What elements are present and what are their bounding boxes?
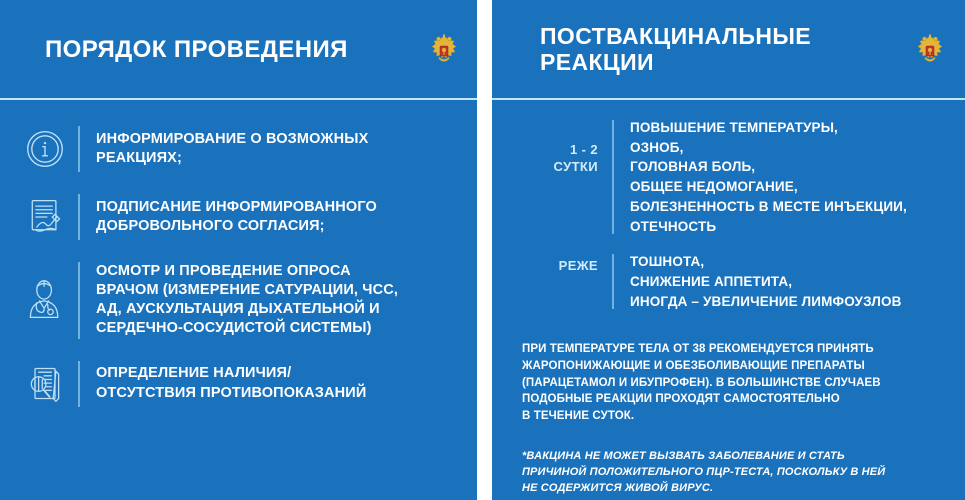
procedure-panel-body: ИНФОРМИРОВАНИЕ О ВОЗМОЖНЫХ РЕАКЦИЯХ;	[0, 100, 477, 407]
temperature-advice-note: ПРИ ТЕМПЕРАТУРЕ ТЕЛА ОТ 38 РЕКОМЕНДУЕТСЯ…	[492, 327, 965, 424]
doctor-icon	[22, 277, 68, 323]
item-divider	[78, 361, 80, 407]
header-divider	[492, 98, 965, 100]
symptom-line: ОЗНОБ,	[630, 138, 907, 158]
vaccine-footnote: *ВАКЦИНА НЕ МОЖЕТ ВЫЗВАТЬ ЗАБОЛЕВАНИЕ И …	[492, 425, 965, 497]
item-divider	[78, 126, 80, 172]
footnote-line: НЕ СОДЕРЖИТСЯ ЖИВОЙ ВИРУС.	[522, 481, 949, 497]
signed-document-icon	[22, 194, 68, 240]
list-item: ПОДПИСАНИЕ ИНФОРМИРОВАННОГО ДОБРОВОЛЬНОГ…	[22, 194, 461, 240]
symptom-line: ГОЛОВНАЯ БОЛЬ,	[630, 157, 907, 177]
symptom-line: ОБЩЕЕ НЕДОМОГАНИЕ,	[630, 177, 907, 197]
row-divider	[612, 120, 614, 234]
note-line: ПРИ ТЕМПЕРАТУРЕ ТЕЛА ОТ 38 РЕКОМЕНДУЕТСЯ…	[522, 341, 949, 358]
label-line: ИНФОРМИРОВАНИЕ О ВОЗМОЖНЫХ	[96, 130, 368, 149]
procedure-panel-header: ПОРЯДОК ПРОВЕДЕНИЯ	[0, 0, 477, 100]
period-line: 1 - 2	[514, 142, 598, 159]
symptom-line: ОТЕЧНОСТЬ	[630, 217, 907, 237]
reaction-period-label: РЕЖЕ	[514, 252, 598, 275]
russian-coat-of-arms-icon	[429, 33, 459, 67]
list-item-label: ОСМОТР И ПРОВЕДЕНИЕ ОПРОСА ВРАЧОМ (ИЗМЕР…	[96, 262, 398, 339]
label-line: ДОБРОВОЛЬНОГО СОГЛАСИЯ;	[96, 217, 377, 236]
label-line: СЕРДЕЧНО-СОСУДИСТОЙ СИСТЕМЫ)	[96, 319, 398, 338]
reactions-panel-body: 1 - 2 СУТКИ ПОВЫШЕНИЕ ТЕМПЕРАТУРЫ, ОЗНОБ…	[492, 100, 965, 497]
reactions-panel-title: ПОСТВАКЦИНАЛЬНЫЕ РЕАКЦИИ	[540, 24, 905, 76]
label-line: ПОДПИСАНИЕ ИНФОРМИРОВАННОГО	[96, 198, 377, 217]
list-item-label: ОПРЕДЕЛЕНИЕ НАЛИЧИЯ/ ОТСУТСТВИЯ ПРОТИВОП…	[96, 364, 366, 402]
procedure-panel: ПОРЯДОК ПРОВЕДЕНИЯ	[0, 0, 477, 500]
note-line: ЖАРОПОНИЖАЮЩИЕ И ОБЕЗБОЛИВАЮЩИЕ ПРЕПАРАТ…	[522, 358, 949, 375]
reactions-table: 1 - 2 СУТКИ ПОВЫШЕНИЕ ТЕМПЕРАТУРЫ, ОЗНОБ…	[492, 100, 965, 311]
label-line: РЕАКЦИЯХ;	[96, 149, 368, 168]
label-line: ОСМОТР И ПРОВЕДЕНИЕ ОПРОСА	[96, 262, 398, 281]
note-line: В ТЕЧЕНИЕ СУТОК.	[522, 408, 949, 425]
list-item: ИНФОРМИРОВАНИЕ О ВОЗМОЖНЫХ РЕАКЦИЯХ;	[22, 126, 461, 172]
russian-coat-of-arms-icon	[915, 33, 945, 67]
reactions-panel: ПОСТВАКЦИНАЛЬНЫЕ РЕАКЦИИ	[492, 0, 965, 500]
reaction-symptom-list: ТОШНОТА, СНИЖЕНИЕ АППЕТИТА, ИНОГДА – УВЕ…	[630, 252, 902, 311]
footnote-line: ПРИЧИНОЙ ПОЛОЖИТЕЛЬНОГО ПЦР-ТЕСТА, ПОСКО…	[522, 465, 949, 481]
item-divider	[78, 262, 80, 339]
reaction-symptom-list: ПОВЫШЕНИЕ ТЕМПЕРАТУРЫ, ОЗНОБ, ГОЛОВНАЯ Б…	[630, 118, 907, 236]
reaction-period-label: 1 - 2 СУТКИ	[514, 118, 598, 176]
procedure-panel-title: ПОРЯДОК ПРОВЕДЕНИЯ	[45, 37, 415, 64]
list-item: ОПРЕДЕЛЕНИЕ НАЛИЧИЯ/ ОТСУТСТВИЯ ПРОТИВОП…	[22, 361, 461, 407]
note-line: ПОДОБНЫЕ РЕАКЦИИ ПРОХОДЯТ САМОСТОЯТЕЛЬНО	[522, 391, 949, 408]
slide-root: ПОРЯДОК ПРОВЕДЕНИЯ	[0, 0, 965, 500]
info-circle-icon	[22, 126, 68, 172]
table-row: РЕЖЕ ТОШНОТА, СНИЖЕНИЕ АППЕТИТА, ИНОГДА …	[514, 252, 951, 311]
symptom-line: БОЛЕЗНЕННОСТЬ В МЕСТЕ ИНЪЕКЦИИ,	[630, 197, 907, 217]
reactions-panel-header: ПОСТВАКЦИНАЛЬНЫЕ РЕАКЦИИ	[492, 0, 965, 100]
header-divider	[0, 98, 477, 100]
title-line: РЕАКЦИИ	[540, 50, 905, 76]
period-line: РЕЖЕ	[514, 258, 598, 275]
symptom-line: СНИЖЕНИЕ АППЕТИТА,	[630, 272, 902, 292]
document-magnifier-icon	[22, 361, 68, 407]
symptom-line: ПОВЫШЕНИЕ ТЕМПЕРАТУРЫ,	[630, 118, 907, 138]
label-line: ОПРЕДЕЛЕНИЕ НАЛИЧИЯ/	[96, 364, 366, 383]
title-line: ПОСТВАКЦИНАЛЬНЫЕ	[540, 24, 905, 50]
note-line: (ПАРАЦЕТАМОЛ И ИБУПРОФЕН). В БОЛЬШИНСТВЕ…	[522, 375, 949, 392]
period-line: СУТКИ	[514, 159, 598, 176]
label-line: ВРАЧОМ (ИЗМЕРЕНИЕ САТУРАЦИИ, ЧСС,	[96, 281, 398, 300]
panel-separator	[477, 0, 492, 500]
footnote-line: *ВАКЦИНА НЕ МОЖЕТ ВЫЗВАТЬ ЗАБОЛЕВАНИЕ И …	[522, 449, 949, 465]
list-item-label: ИНФОРМИРОВАНИЕ О ВОЗМОЖНЫХ РЕАКЦИЯХ;	[96, 130, 368, 168]
symptom-line: ИНОГДА – УВЕЛИЧЕНИЕ ЛИМФОУЗЛОВ	[630, 292, 902, 312]
row-divider	[612, 254, 614, 309]
table-row: 1 - 2 СУТКИ ПОВЫШЕНИЕ ТЕМПЕРАТУРЫ, ОЗНОБ…	[514, 118, 951, 236]
symptom-line: ТОШНОТА,	[630, 252, 902, 272]
list-item-label: ПОДПИСАНИЕ ИНФОРМИРОВАННОГО ДОБРОВОЛЬНОГ…	[96, 198, 377, 236]
list-item: ОСМОТР И ПРОВЕДЕНИЕ ОПРОСА ВРАЧОМ (ИЗМЕР…	[22, 262, 461, 339]
label-line: ОТСУТСТВИЯ ПРОТИВОПОКАЗАНИЙ	[96, 384, 366, 403]
item-divider	[78, 194, 80, 240]
procedure-list: ИНФОРМИРОВАНИЕ О ВОЗМОЖНЫХ РЕАКЦИЯХ;	[0, 100, 477, 407]
label-line: АД, АУСКУЛЬТАЦИЯ ДЫХАТЕЛЬНОЙ И	[96, 300, 398, 319]
